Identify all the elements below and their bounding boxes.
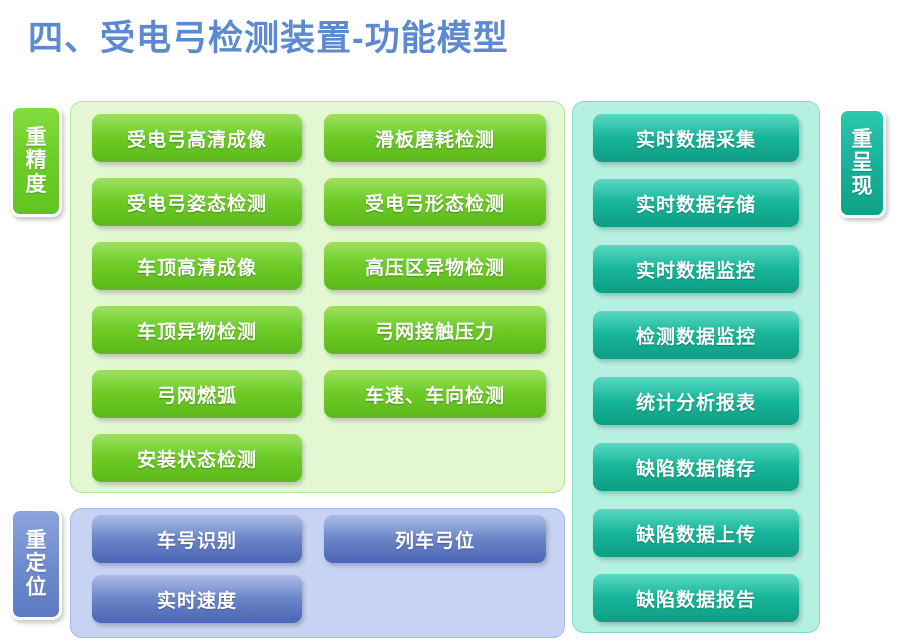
function-button-pantograph-posture-detection[interactable]: 受电弓姿态检测 xyxy=(92,178,302,226)
section-tag-presentation: 重呈现 xyxy=(838,108,886,218)
function-button-realtime-speed[interactable]: 实时速度 xyxy=(92,575,302,623)
function-button-inspection-data-monitoring[interactable]: 检测数据监控 xyxy=(593,311,799,359)
function-button-realtime-data-storage[interactable]: 实时数据存储 xyxy=(593,179,799,227)
section-tag-precision-label: 重精度 xyxy=(24,126,47,197)
function-button-high-voltage-foreign-object-detection[interactable]: 高压区异物检测 xyxy=(324,242,546,290)
function-button-roof-foreign-object-detection[interactable]: 车顶异物检测 xyxy=(92,306,302,354)
function-button-train-pantograph-position[interactable]: 列车弓位 xyxy=(324,515,546,563)
function-button-defect-data-report[interactable]: 缺陷数据报告 xyxy=(593,574,799,622)
function-button-installation-status-detection[interactable]: 安装状态检测 xyxy=(92,434,302,482)
function-button-car-number-recognition[interactable]: 车号识别 xyxy=(92,515,302,563)
section-tag-presentation-label: 重呈现 xyxy=(850,128,873,199)
section-tag-positioning: 重定位 xyxy=(10,508,62,620)
function-button-defect-data-storage[interactable]: 缺陷数据储存 xyxy=(593,443,799,491)
section-tag-positioning-label: 重定位 xyxy=(24,529,47,600)
function-button-pantograph-shape-detection[interactable]: 受电弓形态检测 xyxy=(324,178,546,226)
function-button-statistical-analysis-report[interactable]: 统计分析报表 xyxy=(593,377,799,425)
function-button-contact-pressure[interactable]: 弓网接触压力 xyxy=(324,306,546,354)
function-button-pan-wear-detection[interactable]: 滑板磨耗检测 xyxy=(324,114,546,162)
function-button-defect-data-upload[interactable]: 缺陷数据上传 xyxy=(593,509,799,557)
function-button-roof-hd-imaging[interactable]: 车顶高清成像 xyxy=(92,242,302,290)
section-tag-precision: 重精度 xyxy=(10,105,62,217)
page-title: 四、受电弓检测装置-功能模型 xyxy=(28,18,509,60)
function-button-arcing[interactable]: 弓网燃弧 xyxy=(92,370,302,418)
function-button-realtime-data-monitoring[interactable]: 实时数据监控 xyxy=(593,245,799,293)
function-button-realtime-data-acquisition[interactable]: 实时数据采集 xyxy=(593,114,799,162)
function-button-pantograph-hd-imaging[interactable]: 受电弓高清成像 xyxy=(92,114,302,162)
function-button-speed-direction-detection[interactable]: 车速、车向检测 xyxy=(324,370,546,418)
